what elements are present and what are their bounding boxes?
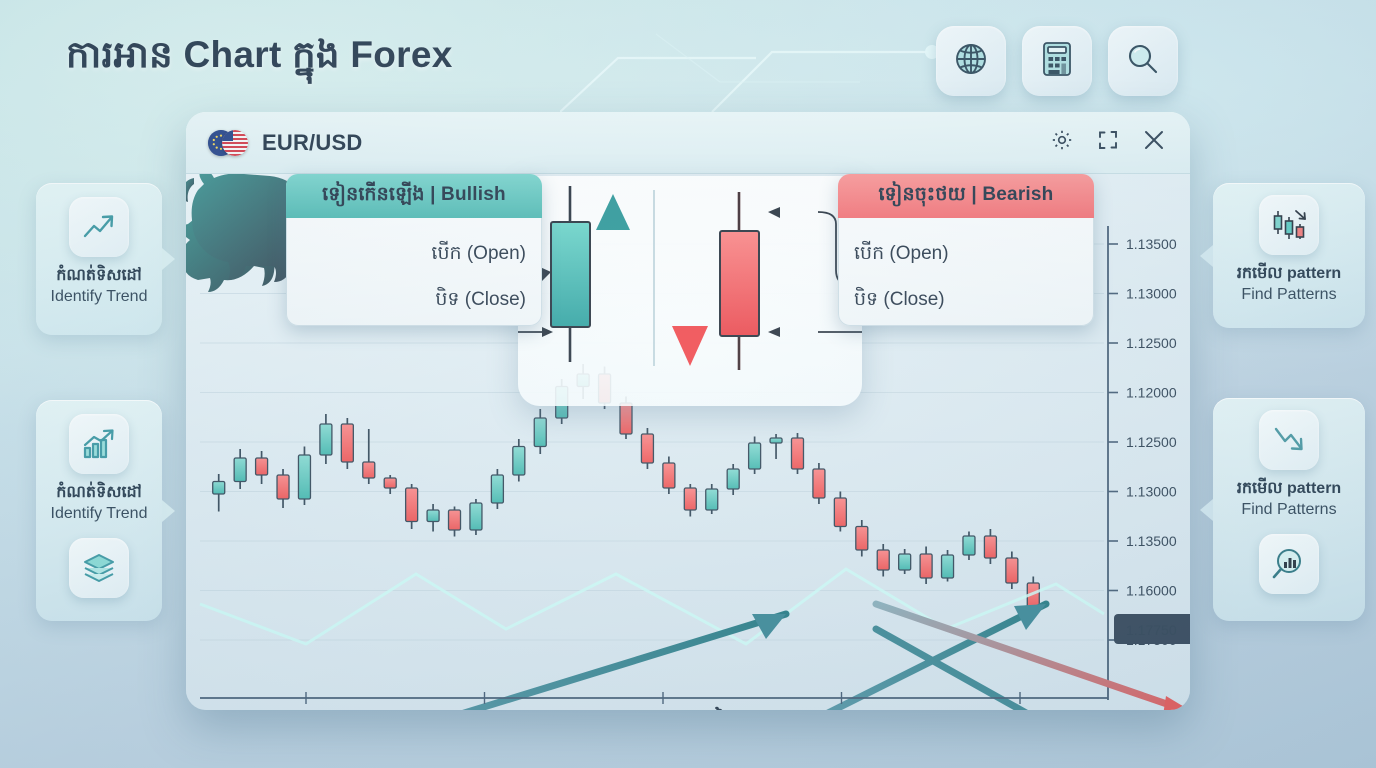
price-axis-label: 1.12500 (1126, 335, 1177, 351)
time-axis-label: Apr (831, 708, 852, 710)
search-icon (1123, 39, 1163, 84)
candlestick (770, 438, 782, 443)
candlestick (384, 478, 396, 488)
candlestick (856, 527, 868, 551)
time-axis-label: Jul (298, 708, 315, 710)
chart-window: EUR/USD (186, 112, 1190, 710)
trend-up-arrow-icon (69, 197, 129, 257)
candlestick (920, 554, 932, 578)
toolbar (936, 26, 1178, 96)
callout-tip (162, 500, 175, 522)
candlestick (727, 469, 739, 489)
candlestick (406, 488, 418, 522)
bearish-open-label: បើក (Open) (854, 232, 1078, 278)
candlestick (470, 503, 482, 530)
bullish-legend-card: ទៀនកើនឡើង | Bullish បើក (Open) បិទ (Clos… (286, 174, 542, 326)
close-icon (1141, 127, 1167, 158)
callout-label-khmer: រកមើល pattern (1237, 263, 1341, 285)
time-axis-label: May (1008, 708, 1033, 710)
candlestick (791, 438, 803, 469)
candlestick (449, 510, 461, 530)
callout-label-khmer: រកមើល pattern (1237, 478, 1341, 500)
candlestick (706, 489, 718, 510)
candlestick (320, 424, 332, 455)
layers-icon (69, 538, 129, 598)
candlestick (534, 418, 546, 447)
close-button[interactable] (1140, 129, 1168, 157)
candlestick (298, 455, 310, 499)
bullish-open-label: បើក (Open) (302, 232, 526, 278)
globe-icon (951, 39, 991, 84)
callout-identify-trend-2[interactable]: កំណត់ទិសដៅ Identify Trend (36, 400, 162, 621)
price-axis-label: 1.12000 (1126, 385, 1177, 401)
bullish-candle-glyph (551, 186, 590, 362)
calculator-button[interactable] (1022, 26, 1092, 96)
current-price-badge: 1.17750 (1114, 614, 1190, 644)
callout-label-english: Find Patterns (1237, 500, 1341, 521)
callout-tip (1200, 499, 1213, 521)
window-controls (1048, 129, 1174, 157)
candle-explainer-diagram (518, 174, 862, 410)
candlestick-pattern-icon (1259, 195, 1319, 255)
magnifier-chart-icon (1259, 534, 1319, 594)
callout-label-khmer: កំណត់ទិសដៅ (51, 482, 148, 504)
candlestick (984, 536, 996, 558)
bearish-card-header: ទៀនចុះថយ | Bearish (838, 174, 1094, 218)
candlestick (942, 555, 954, 578)
candlestick (277, 475, 289, 499)
bullish-card-header: ទៀនកើនឡើង | Bullish (286, 174, 542, 218)
price-axis-label: 1.13500 (1126, 236, 1177, 252)
callout-find-patterns-1[interactable]: រកមើល pattern Find Patterns (1213, 183, 1365, 328)
candlestick (341, 424, 353, 462)
candlestick (963, 536, 975, 555)
search-button[interactable] (1108, 26, 1178, 96)
candlestick (256, 458, 268, 475)
candlestick (813, 469, 825, 498)
gear-icon (1050, 128, 1074, 157)
callout-tip (1200, 245, 1213, 267)
fullscreen-button[interactable] (1094, 129, 1122, 157)
price-axis-label: 1.13500 (1126, 533, 1177, 549)
settings-button[interactable] (1048, 129, 1076, 157)
bar-chart-up-icon (69, 414, 129, 474)
callout-label-english: Identify Trend (51, 287, 148, 308)
trend-arrow (396, 614, 786, 710)
trend-arrow (826, 604, 1046, 710)
candlestick (877, 550, 889, 570)
candlestick (234, 458, 246, 482)
page-title: ការអាន Chart ក្នុង Forex (66, 32, 453, 78)
price-axis-label: 1.16000 (1126, 583, 1177, 599)
callout-label-khmer: កំណត់ទិសដៅ (51, 265, 148, 287)
candlestick (899, 554, 911, 570)
us-flag-icon (222, 130, 248, 156)
infographic-canvas: ការអាន Chart ក្នុង Forex (0, 0, 1376, 768)
bearish-candle-glyph (720, 192, 759, 370)
candlestick (641, 434, 653, 463)
candlestick (834, 498, 846, 527)
price-axis-label: 1.12500 (1126, 434, 1177, 450)
globe-button[interactable] (936, 26, 1006, 96)
bearish-close-label: បិទ (Close) (854, 278, 1078, 324)
price-axis-label: 1.13000 (1126, 286, 1177, 302)
time-axis-label: Sep (473, 708, 496, 710)
callout-find-patterns-2[interactable]: រកមើល pattern Find Patterns (1213, 398, 1365, 621)
bullish-close-label: បិទ (Close) (302, 278, 526, 324)
candlestick (213, 482, 225, 495)
candlestick (663, 463, 675, 488)
trend-down-arrow-icon (1259, 410, 1319, 470)
svg-text:1.17750: 1.17750 (1126, 622, 1177, 638)
candlestick (684, 488, 696, 510)
candlestick (513, 447, 525, 476)
callout-tip (162, 248, 175, 270)
callout-label-english: Find Patterns (1237, 285, 1341, 306)
pair-label: EUR/USD (262, 130, 362, 156)
window-titlebar: EUR/USD (186, 112, 1190, 174)
candlestick (749, 443, 761, 469)
callout-identify-trend-1[interactable]: កំណត់ទិសដៅ Identify Trend (36, 183, 162, 335)
time-axis-label: 2023 (649, 708, 678, 710)
calculator-icon (1038, 39, 1076, 84)
bearish-legend-card: ទៀនចុះថយ | Bearish បើក (Open) បិទ (Close… (838, 174, 1094, 326)
candlestick (491, 475, 503, 503)
price-axis-label: 1.13000 (1126, 484, 1177, 500)
fullscreen-icon (1096, 128, 1120, 157)
callout-label-english: Identify Trend (51, 504, 148, 525)
candlestick (427, 510, 439, 522)
currency-flags (208, 128, 254, 158)
candlestick (1006, 558, 1018, 583)
candlestick (363, 462, 375, 478)
